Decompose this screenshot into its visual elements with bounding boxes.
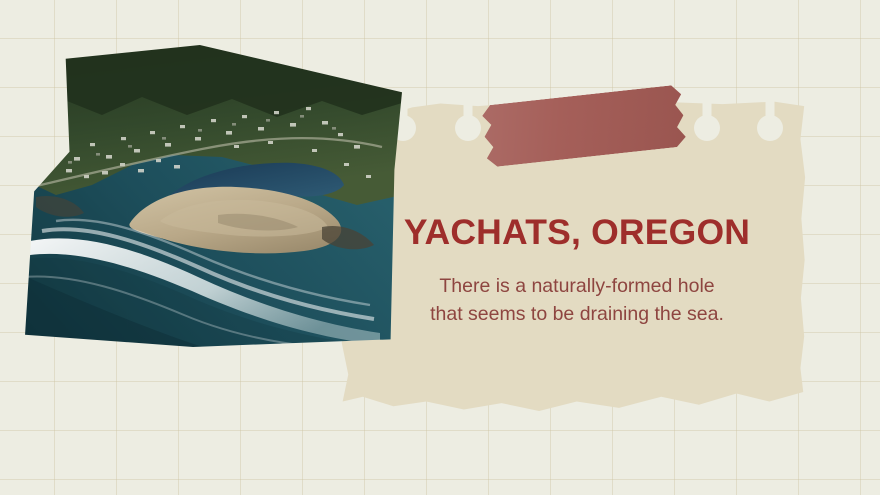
page-description: There is a naturally-formed hole that se… [372,272,782,330]
aerial-coastline-photo [22,45,402,350]
binding-ring-icon [455,115,481,141]
description-line-1: There is a naturally-formed hole [439,275,714,297]
binding-hole-2 [455,95,481,141]
slide-canvas: YACHATS, OREGON There is a naturally-for… [0,0,880,495]
binding-hole-5 [757,95,783,141]
binding-ring-icon [757,115,783,141]
caption-block: YACHATS, OREGON There is a naturally-for… [372,214,782,329]
photo-artwork [22,45,402,350]
binding-ring-icon [694,115,720,141]
binding-hole-4 [694,95,720,141]
description-line-2: that seems to be draining the sea. [430,303,724,325]
page-title: YACHATS, OREGON [372,214,782,252]
